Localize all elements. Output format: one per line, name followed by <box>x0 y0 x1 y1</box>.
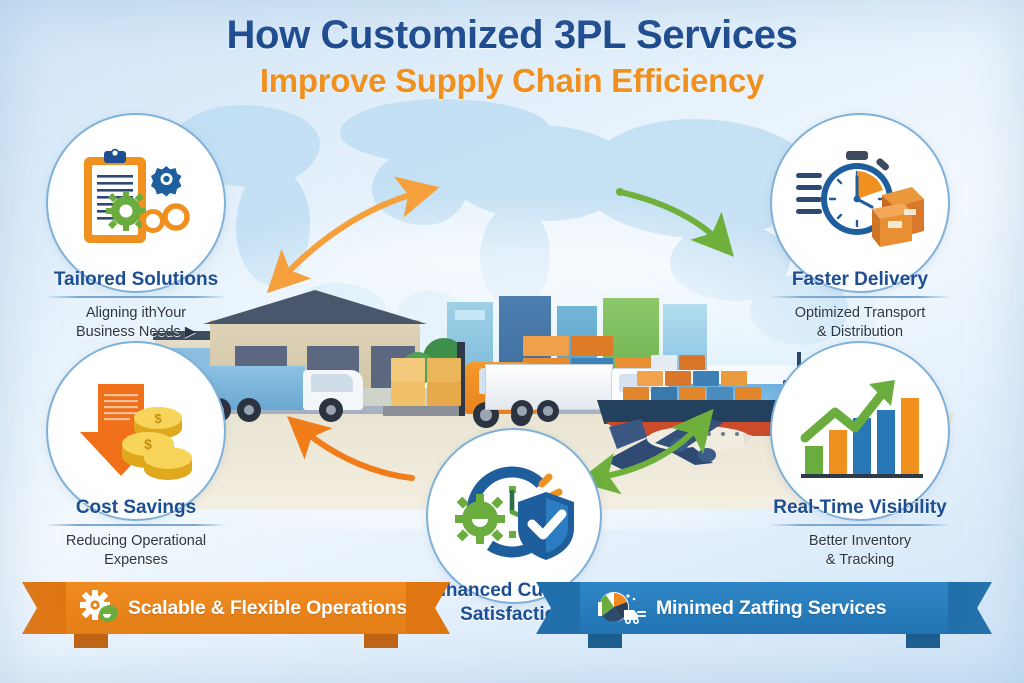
ribbon-minimed-zatfing-services[interactable]: Minimed Zatfing Services <box>580 582 948 634</box>
feature-faster-delivery[interactable]: Faster Delivery Optimized Transport & Di… <box>762 113 958 342</box>
ribbon-label: Minimed Zatfing Services <box>656 597 886 620</box>
clipboard-gears-icon <box>74 147 198 259</box>
ribbon-scalable-flexible-operations[interactable]: Scalable & Flexible Operations <box>66 582 406 634</box>
feature-subtitle-line2: & Tracking <box>762 551 958 570</box>
feature-icon-circle: $ $ <box>46 341 226 521</box>
bar-chart-growth-icon <box>797 376 923 486</box>
building-icon <box>455 310 485 320</box>
gear-leaf-icon <box>80 590 118 626</box>
feature-subtitle-line1: Reducing Operational <box>38 532 234 551</box>
cargo-airplane-icon <box>595 403 765 485</box>
feature-title: Tailored Solutions <box>38 269 234 291</box>
feature-tailored-solutions[interactable]: Tailored Solutions Aligning ithYour Busi… <box>38 113 234 342</box>
ribbon-fold-left <box>588 634 622 648</box>
feature-icon-circle <box>46 113 226 293</box>
header: How Customized 3PL Services Improve Supp… <box>0 14 1024 99</box>
infographic-canvas: How Customized 3PL Services Improve Supp… <box>0 0 1024 683</box>
feature-subtitle-line2: & Distribution <box>762 323 958 342</box>
feature-title: Real-Time Visibility <box>762 497 958 519</box>
ribbon-tail-left <box>22 582 66 634</box>
pie-truck-icon <box>594 590 646 626</box>
feature-subtitle-line2: Business Needs ▶ <box>38 323 234 342</box>
down-arrow-coins-icon: $ $ <box>72 378 200 484</box>
feature-subtitle-line1: Optimized Transport <box>762 304 958 323</box>
feature-icon-circle <box>770 341 950 521</box>
ribbon-fold-right <box>906 634 940 648</box>
feature-real-time-visibility[interactable]: Real-Time Visibility Better Inventory & … <box>762 341 958 570</box>
feature-cost-savings[interactable]: $ $ Cost Savings Reducing Operational Ex… <box>38 341 234 570</box>
feature-subtitle-line1: Better Inventory <box>762 532 958 551</box>
page-title: How Customized 3PL Services <box>0 14 1024 57</box>
ribbon-fold-right <box>364 634 398 648</box>
divider <box>45 296 227 298</box>
ribbon-body: Minimed Zatfing Services <box>580 582 948 634</box>
feature-subtitle-line1: Aligning ithYour <box>38 304 234 323</box>
stopwatch-packages-icon <box>794 147 926 259</box>
svg-text:$: $ <box>144 436 152 452</box>
feature-title: Faster Delivery <box>762 269 958 291</box>
ribbon-tail-right <box>948 582 992 634</box>
divider <box>45 524 227 526</box>
svg-text:$: $ <box>154 411 162 426</box>
ribbon-label: Scalable & Flexible Operations <box>128 597 407 620</box>
ribbon-body: Scalable & Flexible Operations <box>66 582 407 634</box>
feature-icon-circle <box>426 428 602 604</box>
divider <box>769 524 951 526</box>
feature-icon-circle <box>770 113 950 293</box>
clock-gear-shield-icon <box>450 462 578 570</box>
feature-subtitle-line2: Expenses <box>38 551 234 570</box>
feature-title: Cost Savings <box>38 497 234 519</box>
ribbon-fold-left <box>74 634 108 648</box>
divider <box>769 296 951 298</box>
page-subtitle: Improve Supply Chain Efficiency <box>0 63 1024 99</box>
